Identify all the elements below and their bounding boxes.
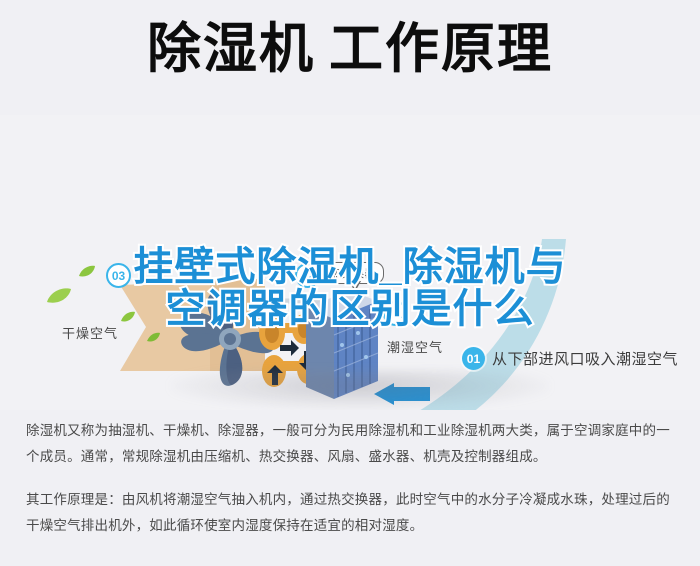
illustration-drop-shadow <box>170 370 550 410</box>
overlay-watermark-title: 挂壁式除湿机_除湿机与 空调器的区别是什么 <box>0 246 700 331</box>
leaf-icon <box>146 331 161 349</box>
body-paragraph-1: 除湿机又称为抽湿机、干燥机、除湿器，一般可分为民用除湿机和工业除湿机两大类，属于… <box>26 418 676 471</box>
legend-badge-01: 01 <box>462 347 485 370</box>
overlay-title-line1: 挂壁式除湿机_除湿机与 <box>0 246 700 288</box>
legend-text-01: 从下部进风口吸入潮湿空气 <box>492 348 678 369</box>
page-title-part2: 工作原理 <box>329 19 553 79</box>
overlay-title-line2: 空调器的区别是什么 <box>0 288 700 330</box>
body-paragraph-2: 其工作原理是：由风机将潮湿空气抽入机内，通过热交换器，此时空气中的水分子冷凝成水… <box>26 487 676 540</box>
page-root: 除湿机工作原理 <box>0 0 700 566</box>
page-title-part1: 除湿机 <box>147 19 315 79</box>
page-title: 除湿机工作原理 <box>0 22 700 76</box>
callout-label-humid-air: 潮湿空气 <box>387 337 443 356</box>
legend-item-01: 01 从下部进风口吸入潮湿空气 <box>462 347 678 370</box>
